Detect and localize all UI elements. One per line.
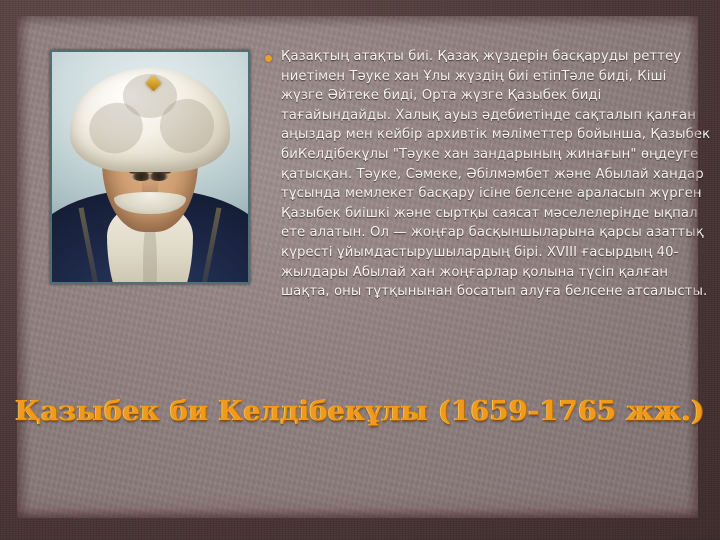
portrait-image xyxy=(50,50,250,284)
list-item: Қазақтың атақты биі. Қазақ жүздерін басқ… xyxy=(265,47,711,302)
slide-paper-background: Қазақтың атақты биі. Қазақ жүздерін басқ… xyxy=(17,16,698,518)
slide-body-text: Қазақтың атақты биі. Қазақ жүздерін басқ… xyxy=(265,47,711,302)
page-title: Қазыбек би Келдібекұлы (1659-1765 жж.) xyxy=(0,396,720,427)
portrait-canvas xyxy=(52,52,248,282)
bullet-point-icon xyxy=(265,55,272,62)
bullet-item-label: Қазақтың атақты биі. Қазақ жүздерін басқ… xyxy=(281,47,711,302)
portrait-turban xyxy=(70,68,230,172)
presentation-slide: Қазақтың атақты биі. Қазақ жүздерін басқ… xyxy=(0,0,720,540)
